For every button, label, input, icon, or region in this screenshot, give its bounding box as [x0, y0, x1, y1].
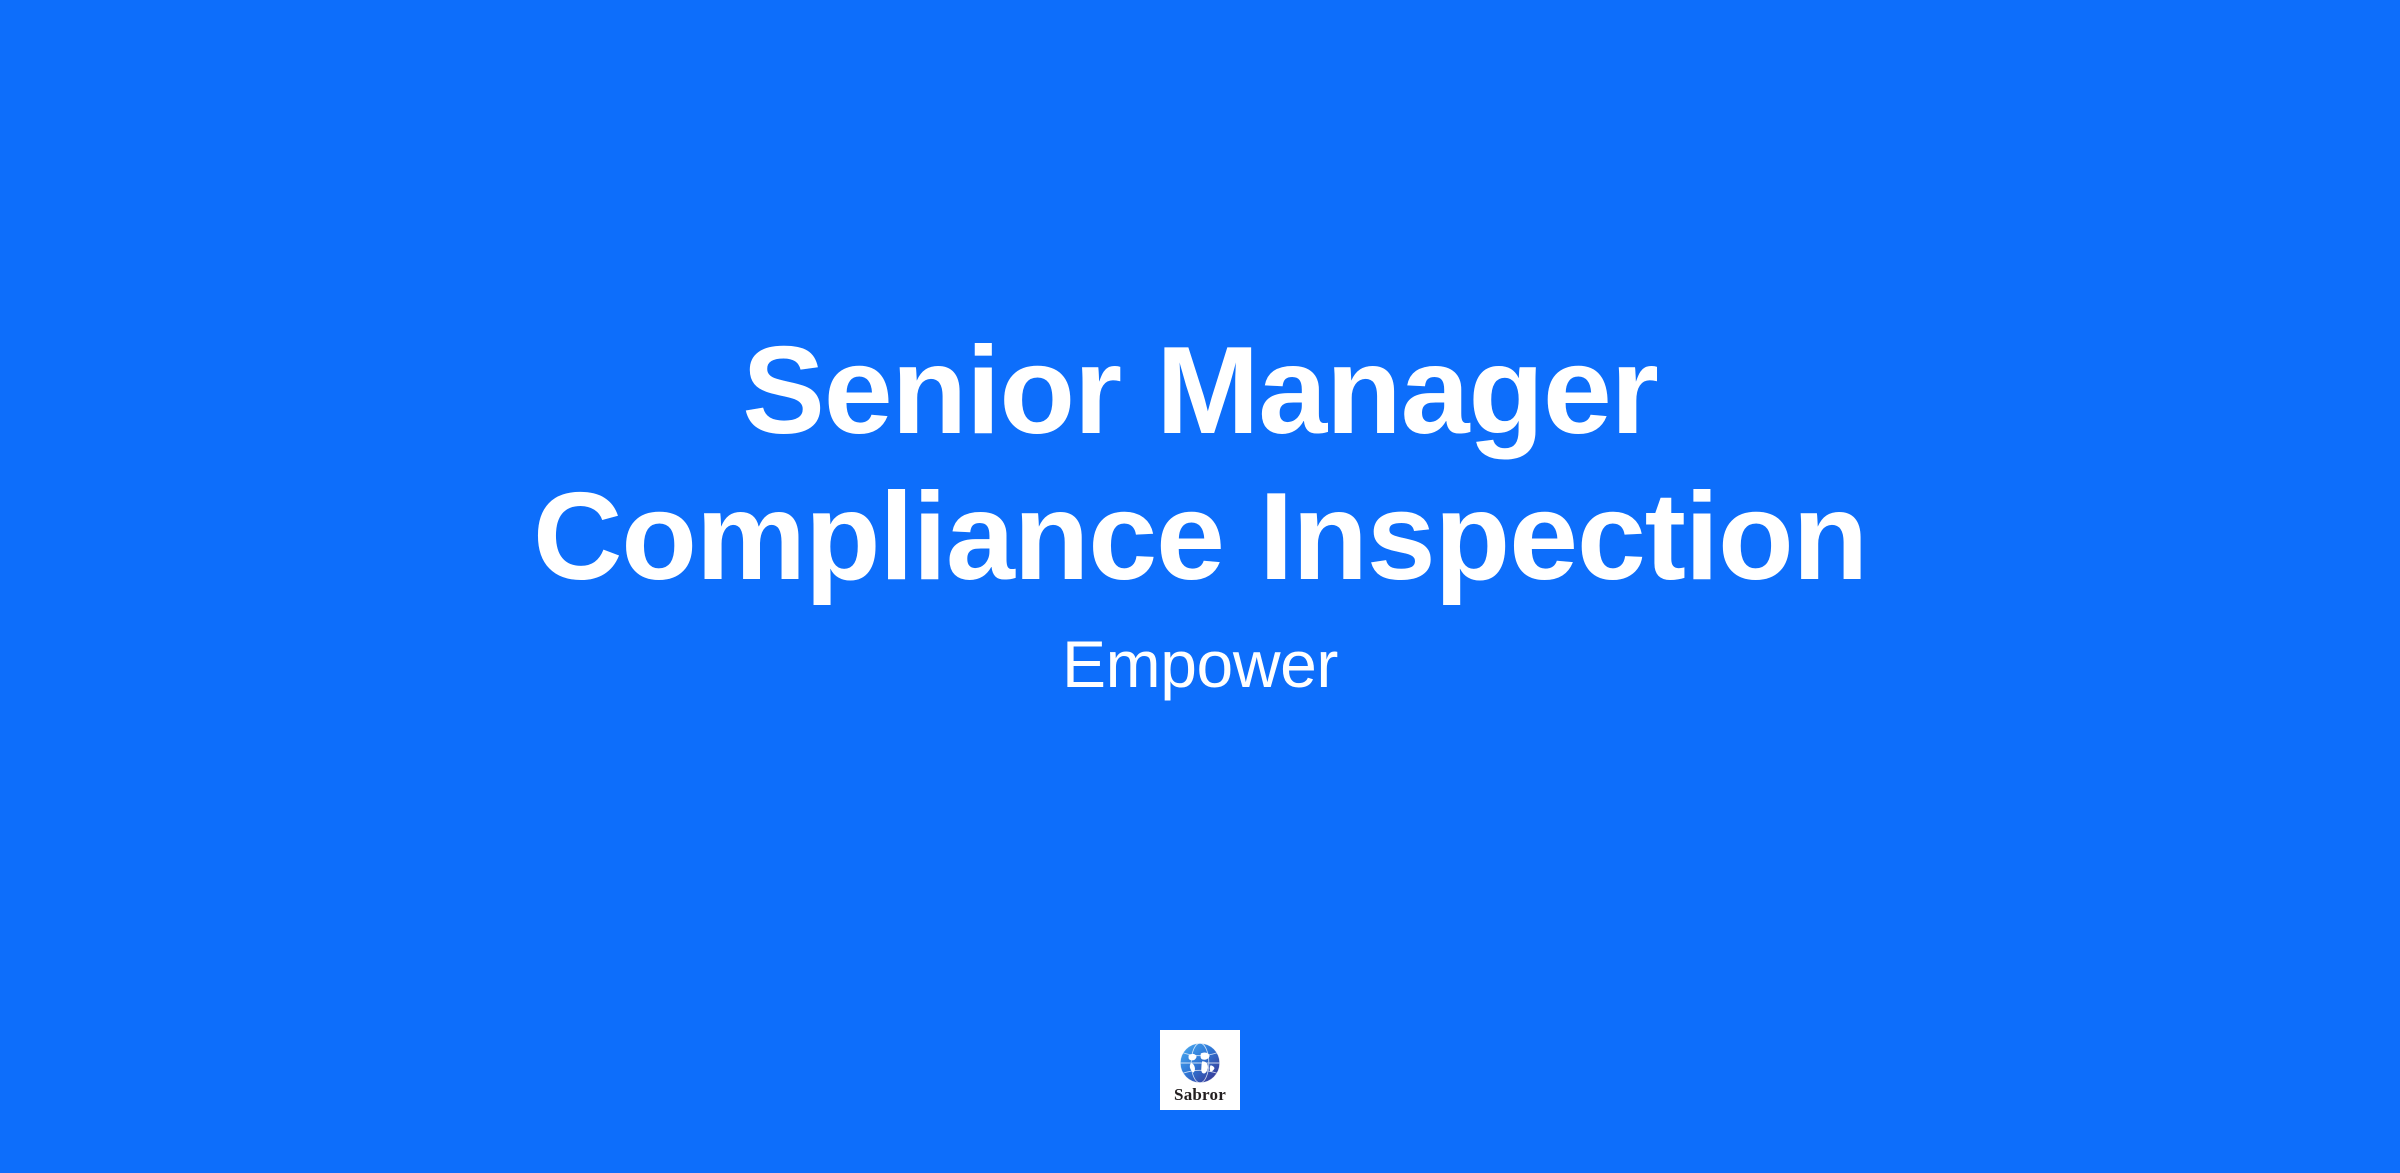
- title-slide: Senior Manager Compliance Inspection Emp…: [0, 0, 2400, 1173]
- brand-wordmark: Sabror: [1174, 1086, 1226, 1103]
- brand-logo: Sabror: [1160, 1030, 1240, 1110]
- globe-icon: [1178, 1041, 1222, 1085]
- slide-subtitle: Empower: [1062, 625, 1338, 704]
- heading-block: Senior Manager Compliance Inspection Emp…: [0, 318, 2400, 704]
- page-title: Senior Manager Compliance Inspection: [420, 318, 1980, 611]
